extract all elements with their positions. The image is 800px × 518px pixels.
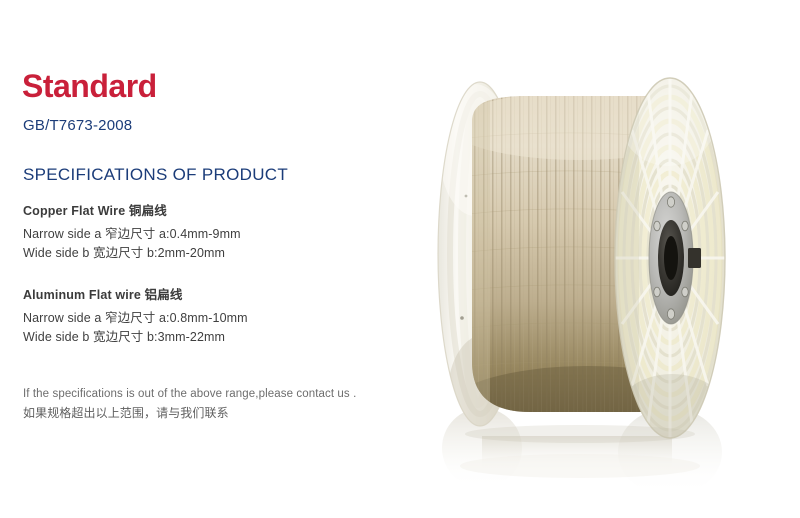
page-title: Standard — [22, 70, 157, 102]
wire-spool-photo — [420, 0, 800, 518]
note-chinese: 如果规格超出以上范围，请与我们联系 — [23, 404, 433, 424]
note-english: If the specifications is out of the abov… — [23, 385, 433, 404]
product-spec-page: Standard GB/T7673-2008 SPECIFICATIONS OF… — [0, 0, 800, 518]
contact-note: If the specifications is out of the abov… — [23, 385, 433, 424]
spec-group-copper: Copper Flat Wire 铜扁线 Narrow side a 窄边尺寸 … — [23, 204, 423, 263]
spec-narrow-side: Narrow side a 窄边尺寸 a:0.8mm-10mm — [23, 309, 423, 328]
spec-wide-side: Wide side b 宽边尺寸 b:3mm-22mm — [23, 328, 423, 347]
contact-shadow — [465, 425, 695, 443]
spec-wide-side: Wide side b 宽边尺寸 b:2mm-20mm — [23, 244, 423, 263]
spec-group-title: Aluminum Flat wire 铝扁线 — [23, 288, 423, 304]
standard-code: GB/T7673-2008 — [23, 117, 132, 134]
specifications-heading: SPECIFICATIONS OF PRODUCT — [23, 165, 288, 185]
spec-group-aluminum: Aluminum Flat wire 铝扁线 Narrow side a 窄边尺… — [23, 288, 423, 347]
spec-group-title: Copper Flat Wire 铜扁线 — [23, 204, 423, 220]
hub-keyway — [688, 248, 701, 268]
spool-illustration — [420, 0, 800, 518]
spec-narrow-side: Narrow side a 窄边尺寸 a:0.4mm-9mm — [23, 225, 423, 244]
specification-text-column: Standard GB/T7673-2008 SPECIFICATIONS OF… — [22, 0, 442, 518]
hub-bore-inner — [664, 236, 678, 280]
